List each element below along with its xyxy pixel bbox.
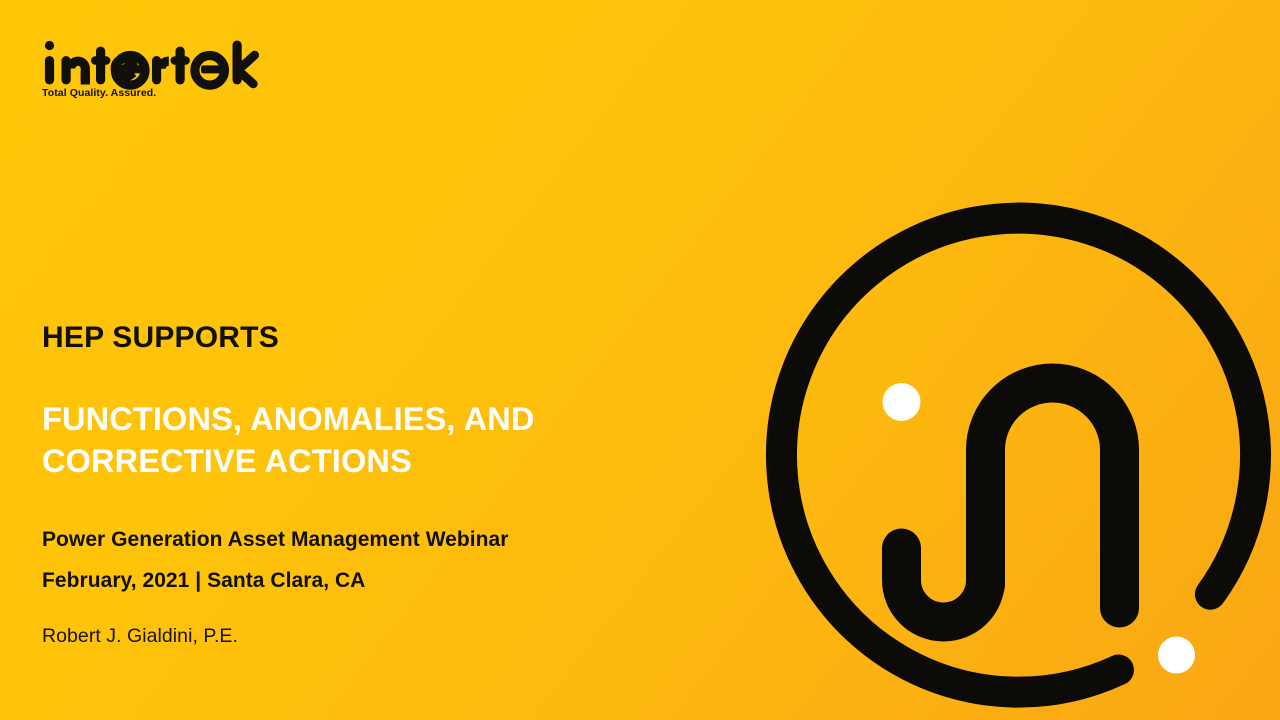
title-slide: Total Quality. Assured. HEP SUPPORTS FUN…	[0, 0, 1280, 720]
headline-line-2: CORRECTIVE ACTIONS	[42, 440, 682, 482]
page-title: FUNCTIONS, ANOMALIES, AND CORRECTIVE ACT…	[42, 354, 682, 483]
headline-line-1: FUNCTIONS, ANOMALIES, AND	[42, 398, 682, 440]
event-date-location: February, 2021 | Santa Clara, CA	[42, 561, 682, 602]
title-text-block: HEP SUPPORTS FUNCTIONS, ANOMALIES, AND C…	[42, 322, 682, 648]
intertek-logo: Total Quality. Assured.	[41, 40, 341, 110]
event-name: Power Generation Asset Management Webina…	[42, 520, 682, 561]
monogram-i-dot	[883, 383, 921, 421]
presenter-name: Robert J. Gialdini, P.E.	[42, 602, 682, 648]
monogram-gap-dot	[1158, 637, 1195, 674]
event-info: Power Generation Asset Management Webina…	[42, 482, 682, 602]
eyebrow-title: HEP SUPPORTS	[42, 322, 682, 354]
intertek-wordmark-icon	[41, 40, 341, 90]
brand-tagline: Total Quality. Assured.	[42, 87, 156, 99]
intertek-monogram-icon	[700, 240, 1280, 720]
